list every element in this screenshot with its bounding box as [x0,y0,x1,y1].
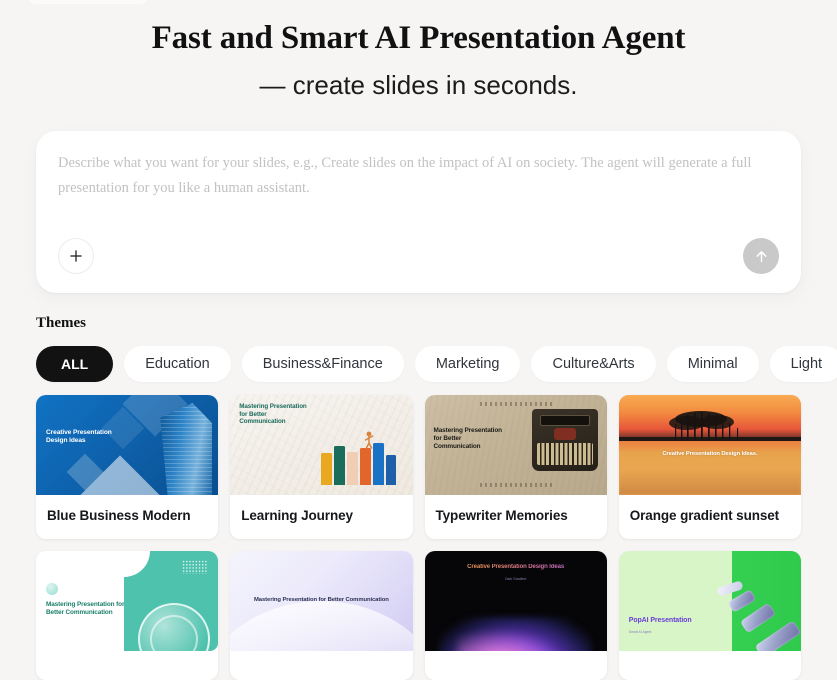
slide-title: PopAI Presentation [629,617,692,626]
slide-title: Creative Presentation Design Ideas [46,429,130,445]
theme-thumbnail-learning-journey: Mastering Presentation for Better Commun… [230,395,412,495]
tree-silhouette-illustration [667,410,753,440]
theme-card-title: Orange gradient sunset [619,495,801,539]
theme-thumbnail-typewriter: Mastering Presentation for Better Commun… [425,395,607,495]
theme-card[interactable]: Creative Presentation Design Ideas Blue … [36,395,218,539]
books-illustration [319,441,403,485]
filter-chip-culture-arts[interactable]: Culture&Arts [531,346,655,382]
themes-heading: Themes [36,315,801,332]
theme-card[interactable]: PopAI Presentation Smart AI Agent [619,551,801,680]
theme-thumbnail-orange-sunset: Creative Presentation Design Ideas. [619,395,801,495]
filter-chip-business-finance[interactable]: Business&Finance [242,346,404,382]
top-edge-sliver [28,0,148,4]
theme-card-title: Typewriter Memories [425,495,607,539]
prompt-card[interactable]: Describe what you want for your slides, … [36,131,801,293]
hero-section: Fast and Smart AI Presentation Agent — c… [36,0,801,103]
theme-card-title: Blue Business Modern [36,495,218,539]
person-illustration [363,431,375,449]
filter-chip-all[interactable]: ALL [36,346,113,382]
robot-hand-illustration [713,565,799,651]
slide-title: Mastering Presentation for Better Commun… [434,427,508,450]
submit-prompt-button[interactable] [743,238,779,274]
filter-chip-light[interactable]: Light [770,346,837,382]
prompt-input[interactable]: Describe what you want for your slides, … [58,151,758,201]
theme-thumbnail-lavender-minimal: Mastering Presentation for Better Commun… [230,551,412,651]
plus-icon [69,249,83,263]
theme-card[interactable]: Creative Presentation Design Ideas. Oran… [619,395,801,539]
theme-filter-chips: ALL Education Business&Finance Marketing… [36,346,801,382]
theme-card-title [619,651,801,680]
filter-chip-marketing[interactable]: Marketing [415,346,521,382]
slide-title: Creative Presentation Design Ideas [425,564,607,571]
slide-subtitle: Smart AI Agent [629,630,652,634]
slide-title: Creative Presentation Design Ideas. [619,451,801,458]
theme-card-title: Learning Journey [230,495,412,539]
arrow-up-icon [753,248,770,265]
theme-card[interactable]: Mastering Presentation for Better Commun… [230,551,412,680]
page-container: Fast and Smart AI Presentation Agent — c… [0,0,837,680]
slide-subtitle: Dark Gradient [425,577,607,581]
page-subtitle: — create slides in seconds. [36,69,801,103]
theme-grid: Creative Presentation Design Ideas Blue … [36,395,801,680]
theme-card[interactable]: Creative Presentation Design Ideas Dark … [425,551,607,680]
typewriter-illustration [532,409,598,471]
add-attachment-button[interactable] [58,238,94,274]
theme-card-title [230,651,412,680]
dot-grid-pattern [182,560,208,574]
page-title: Fast and Smart AI Presentation Agent [36,18,801,58]
filter-chip-minimal[interactable]: Minimal [667,346,759,382]
theme-thumbnail-popai-green: PopAI Presentation Smart AI Agent [619,551,801,651]
theme-card[interactable]: Mastering Presentation for Better Commun… [425,395,607,539]
theme-card-title [425,651,607,680]
filter-chip-education[interactable]: Education [124,346,231,382]
slide-title: Mastering Presentation for Better Commun… [46,601,138,617]
slide-title: Mastering Presentation for Better Commun… [239,403,309,426]
prompt-actions [58,237,779,275]
theme-thumbnail-blue-business: Creative Presentation Design Ideas [36,395,218,495]
slide-title: Mastering Presentation for Better Commun… [230,597,412,604]
theme-thumbnail-teal-circles: Mastering Presentation for Better Commun… [36,551,218,651]
theme-thumbnail-dark-gradient: Creative Presentation Design Ideas Dark … [425,551,607,651]
theme-card[interactable]: Mastering Presentation for Better Commun… [36,551,218,680]
theme-card-title [36,651,218,680]
theme-card[interactable]: Mastering Presentation for Better Commun… [230,395,412,539]
